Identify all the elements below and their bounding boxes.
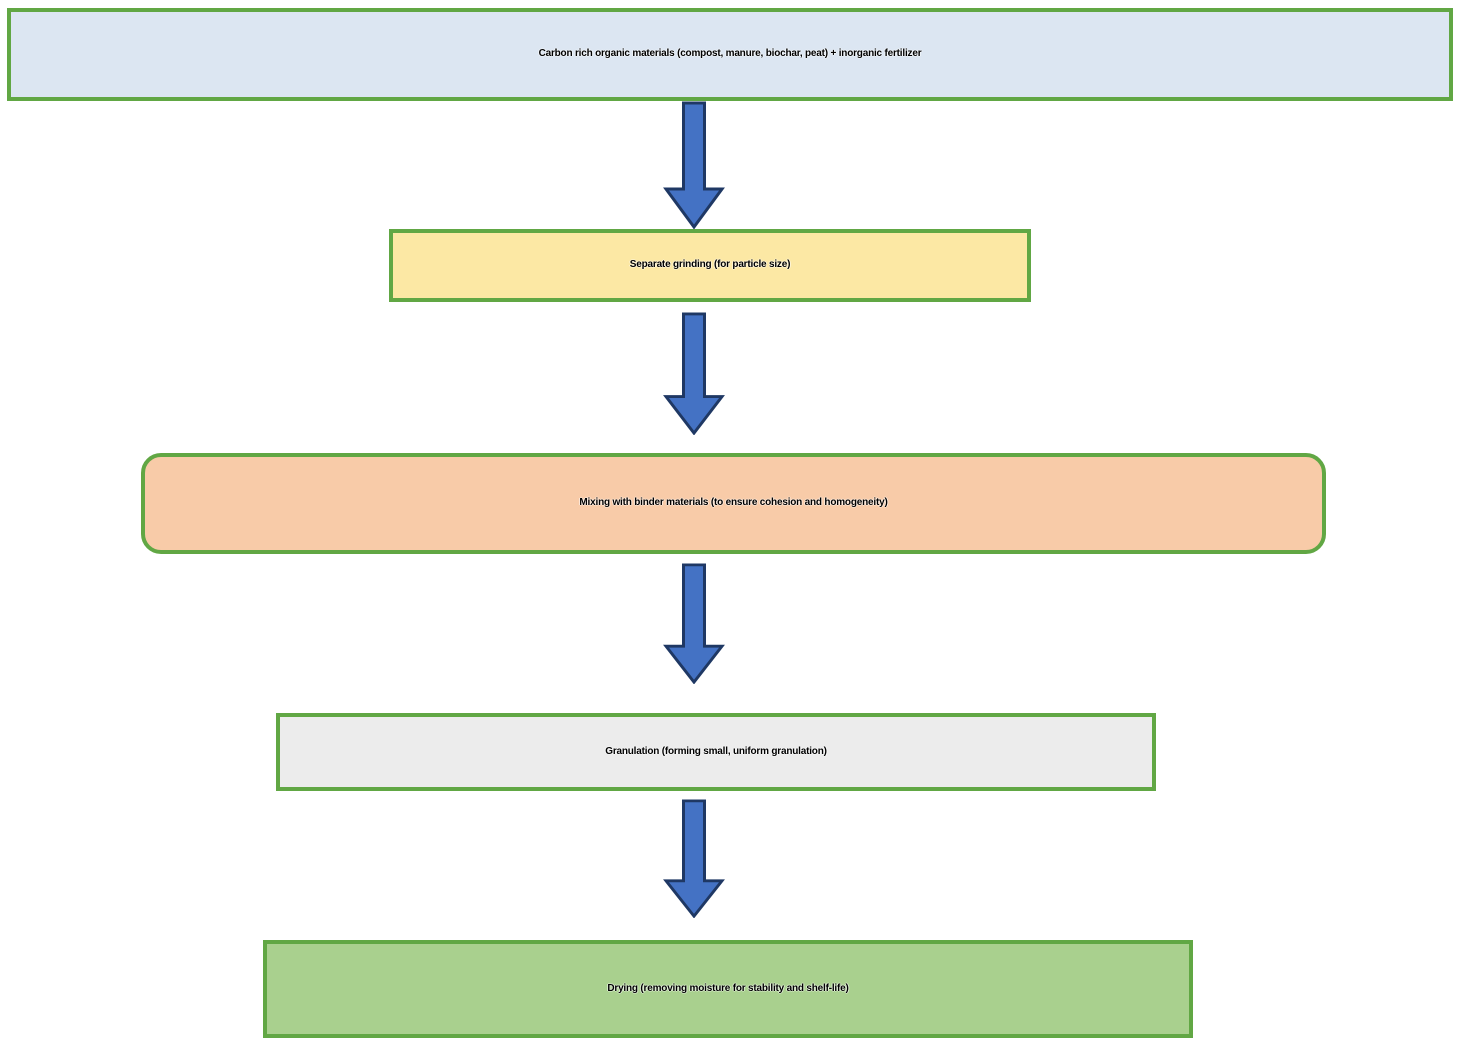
flow-step-label-1: Carbon rich organic materials (compost, … [11,49,1449,60]
flow-step-box-1[interactable]: Carbon rich organic materials (compost, … [7,8,1453,101]
flow-step-label-2: Separate grinding (for particle size) [393,260,1027,271]
flow-step-box-2[interactable]: Separate grinding (for particle size) [389,229,1031,302]
flowchart-canvas: Carbon rich organic materials (compost, … [0,0,1465,1059]
flow-step-label-3: Mixing with binder materials (to ensure … [145,498,1322,509]
flow-step-box-5[interactable]: Drying (removing moisture for stability … [263,940,1193,1038]
flow-step-label-4: Granulation (forming small, uniform gran… [280,747,1152,758]
flow-step-label-5: Drying (removing moisture for stability … [267,984,1189,995]
down-arrow-icon-1 [663,101,725,229]
flow-step-box-3[interactable]: Mixing with binder materials (to ensure … [141,453,1326,554]
down-arrow-icon-4 [663,799,725,918]
down-arrow-icon-3 [663,563,725,684]
down-arrow-icon-2 [663,312,725,435]
flow-step-box-4[interactable]: Granulation (forming small, uniform gran… [276,713,1156,791]
